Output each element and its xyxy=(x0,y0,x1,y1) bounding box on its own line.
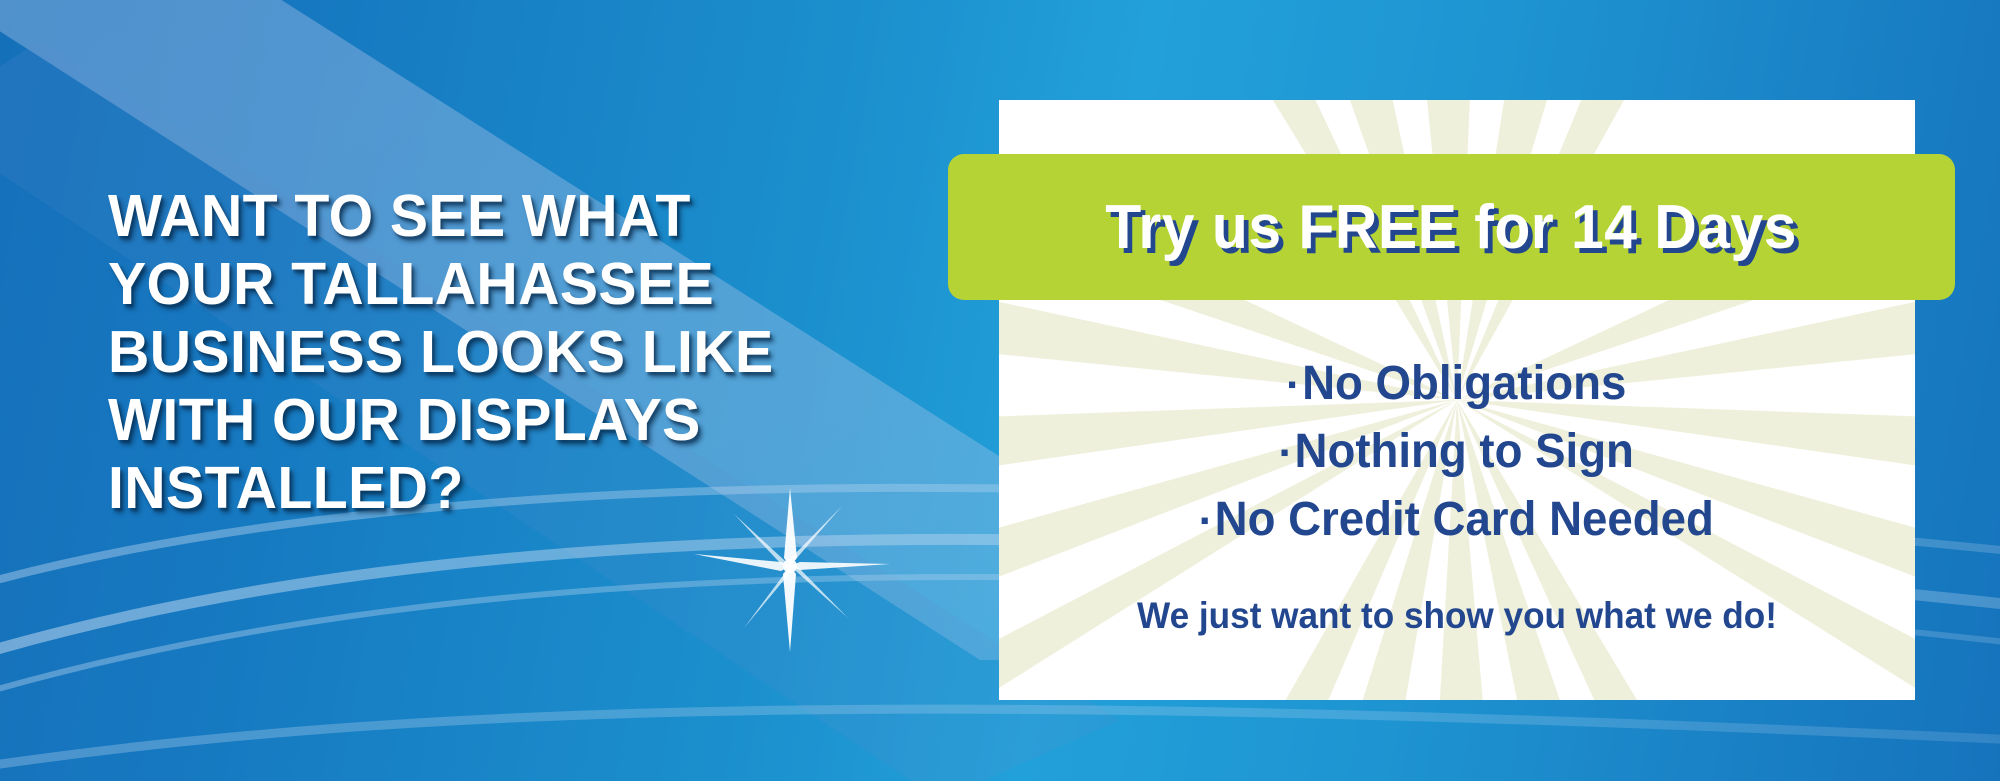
benefit-label-3: No Credit Card Needed xyxy=(1215,493,1714,546)
benefit-label-2: Nothing to Sign xyxy=(1295,425,1634,478)
benefits-list: ▪No Obligations ▪Nothing to Sign ▪No Cre… xyxy=(999,350,1915,554)
ribbon-label: Try us FREE for 14 Days xyxy=(1106,192,1798,263)
benefit-label-1: No Obligations xyxy=(1302,357,1626,410)
headline-line-1: WANT TO SEE WHAT xyxy=(108,182,845,250)
headline-line-5: INSTALLED? xyxy=(108,454,845,522)
headline-line-4: WITH OUR DISPLAYS xyxy=(108,386,845,454)
free-trial-ribbon[interactable]: Try us FREE for 14 Days xyxy=(948,154,1955,300)
headline-line-2: YOUR TALLAHASSEE xyxy=(108,250,845,318)
tagline: We just want to show you what we do! xyxy=(1022,595,1892,637)
promo-banner: WANT TO SEE WHAT YOUR TALLAHASSEE BUSINE… xyxy=(0,0,2000,781)
square-bullet-icon: ▪ xyxy=(1280,418,1289,486)
square-bullet-icon: ▪ xyxy=(1200,486,1209,554)
list-item: ▪No Obligations xyxy=(1022,350,1892,418)
square-bullet-icon: ▪ xyxy=(1288,350,1297,418)
page-title: WANT TO SEE WHAT YOUR TALLAHASSEE BUSINE… xyxy=(108,182,845,522)
list-item: ▪No Credit Card Needed xyxy=(1022,486,1892,554)
list-item: ▪Nothing to Sign xyxy=(1022,418,1892,486)
headline-line-3: BUSINESS LOOKS LIKE xyxy=(108,318,845,386)
